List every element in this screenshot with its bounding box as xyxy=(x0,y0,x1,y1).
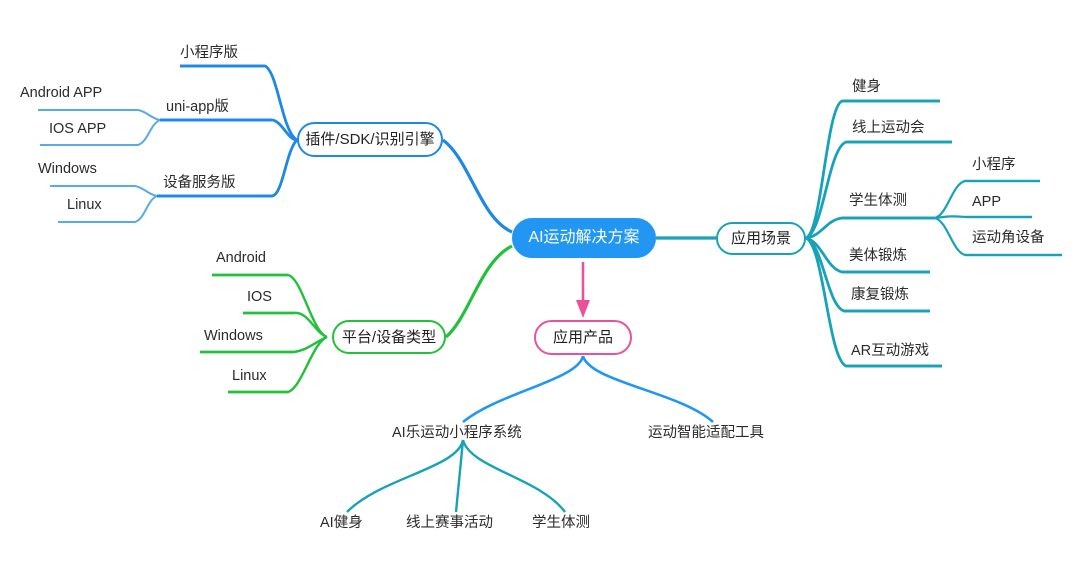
wire-uniapp-android xyxy=(38,110,160,120)
leaf-platform-linux[interactable]: Linux xyxy=(232,369,267,384)
arrowhead-product xyxy=(576,300,590,318)
connector-lines xyxy=(0,0,1076,577)
leaf-ai-fitness[interactable]: AI健身 xyxy=(320,516,363,531)
wire-product-adapt-tool xyxy=(583,356,713,422)
leaf-ai-le-sport-miniprogram-system[interactable]: AI乐运动小程序系统 xyxy=(392,426,522,441)
leaf-platform-ios[interactable]: IOS xyxy=(247,290,272,305)
leaf-ar-interactive-game[interactable]: AR互动游戏 xyxy=(851,344,929,359)
leaf-smart-sport-adaptation-tool[interactable]: 运动智能适配工具 xyxy=(648,426,764,441)
wire-root-plugin xyxy=(443,140,512,232)
leaf-body-shaping[interactable]: 美体锻炼 xyxy=(849,249,907,264)
leaf-online-sports-meet[interactable]: 线上运动会 xyxy=(852,121,925,136)
wire-product-ailey xyxy=(463,356,583,422)
wire-root-platform xyxy=(446,246,512,337)
leaf-online-competition-events[interactable]: 线上赛事活动 xyxy=(406,516,493,531)
leaf-student-physical-test[interactable]: 学生体测 xyxy=(849,194,907,209)
wire-scenario-student-test xyxy=(806,218,935,238)
node-platform-device-type[interactable]: 平台/设备类型 xyxy=(332,320,446,354)
leaf-app[interactable]: APP xyxy=(972,195,1001,210)
node-application-product[interactable]: 应用产品 xyxy=(534,320,632,355)
leaf-sport-corner-device[interactable]: 运动角设备 xyxy=(972,231,1045,246)
leaf-student-test-product[interactable]: 学生体测 xyxy=(532,516,590,531)
leaf-platform-windows[interactable]: Windows xyxy=(204,329,263,344)
leaf-platform-android[interactable]: Android xyxy=(216,251,266,266)
wire-device-windows xyxy=(50,186,157,196)
wire-ailey-aifitness xyxy=(347,440,463,512)
leaf-device-service-version[interactable]: 设备服务版 xyxy=(163,176,236,191)
leaf-windows-device[interactable]: Windows xyxy=(38,162,97,177)
leaf-mini-program-version[interactable]: 小程序版 xyxy=(180,46,238,61)
leaf-uniapp-version[interactable]: uni-app版 xyxy=(166,100,229,115)
leaf-android-app[interactable]: Android APP xyxy=(20,86,102,101)
leaf-fitness[interactable]: 健身 xyxy=(852,80,881,95)
leaf-mini-program[interactable]: 小程序 xyxy=(972,158,1016,173)
wire-ailey-studenttest xyxy=(463,440,565,512)
mindmap-canvas: AI运动解决方案 插件/SDK/识别引擎 平台/设备类型 应用场景 应用产品 小… xyxy=(0,0,1076,577)
leaf-linux-device[interactable]: Linux xyxy=(67,198,102,213)
root-node[interactable]: AI运动解决方案 xyxy=(512,218,656,258)
wire-plugin-uniapp xyxy=(160,120,297,140)
leaf-rehab-training[interactable]: 康复锻炼 xyxy=(851,288,909,303)
node-application-scenario[interactable]: 应用场景 xyxy=(716,222,806,255)
leaf-ios-app[interactable]: IOS APP xyxy=(49,122,106,137)
node-plugin-sdk[interactable]: 插件/SDK/识别引擎 xyxy=(297,122,443,157)
